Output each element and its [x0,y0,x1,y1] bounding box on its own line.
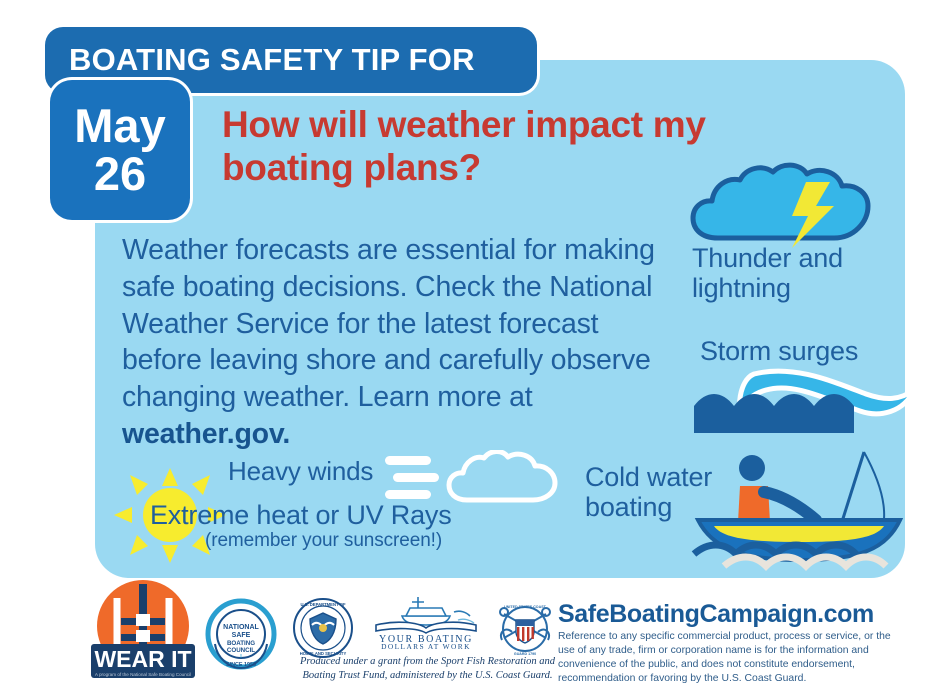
wear-it-logo: WEAR IT A program of the National Safe B… [73,578,213,686]
svg-text:U.S. DEPARTMENT OF: U.S. DEPARTMENT OF [300,602,345,607]
hazard-label-heavy-winds: Heavy winds [228,456,373,487]
svg-text:SAFE: SAFE [232,632,251,639]
wear-it-tagline: A program of the National Safe Boating C… [95,672,191,677]
fishing-rod-icon [840,452,864,528]
hazard-label-thunder: Thunder and lightning [692,243,892,303]
uscg-seal-logo: UNITED STATES COAST GUARD 1790 [494,596,556,658]
thunder-cloud-icon [688,160,898,250]
ybdw-line2: DOLLARS AT WORK [381,642,471,650]
hazard-label-storm-surges: Storm surges [700,337,920,367]
svg-text:SINCE 1958: SINCE 1958 [226,662,256,668]
date-month: May [74,102,165,150]
date-day: 26 [94,150,146,198]
nsbc-seal-logo: NATIONAL SAFE BOATING COUNCIL SINCE 1958 [203,596,279,672]
grant-attribution-text: Produced under a grant from the Sport Fi… [300,655,555,683]
svg-text:COUNCIL: COUNCIL [227,647,255,654]
rowboat-angler-icon [690,446,910,571]
svg-text:UNITED STATES COAST: UNITED STATES COAST [504,605,546,609]
wave-icon [694,368,924,433]
angler-head-icon [739,455,765,481]
body-text: Weather forecasts are essential for maki… [122,234,655,413]
hazard-sublabel-sunscreen: (remember your sunscreen!) [205,530,442,552]
wear-it-title: WEAR IT [94,646,191,672]
svg-text:BOATING: BOATING [227,640,255,647]
campaign-url[interactable]: SafeBoatingCampaign.com [558,600,874,629]
weather-gov-link[interactable]: weather.gov. [122,418,290,450]
your-boating-dollars-logo: YOUR BOATING DOLLARS AT WORK [362,594,490,650]
dhs-seal-logo: U.S. DEPARTMENT OF HOMELAND SECURITY [292,597,354,659]
svg-text:NATIONAL: NATIONAL [223,624,259,631]
body-paragraph: Weather forecasts are essential for maki… [122,232,667,453]
date-badge: May 26 [50,80,190,220]
infographic-canvas: BOATING SAFETY TIP FOR May 26 How will w… [0,0,931,694]
tip-banner-label: BOATING SAFETY TIP FOR [45,42,475,78]
hazard-label-extreme-heat: Extreme heat or UV Rays [150,500,452,531]
legal-disclaimer: Reference to any specific commercial pro… [558,630,903,687]
angler-arm-icon [764,492,816,520]
